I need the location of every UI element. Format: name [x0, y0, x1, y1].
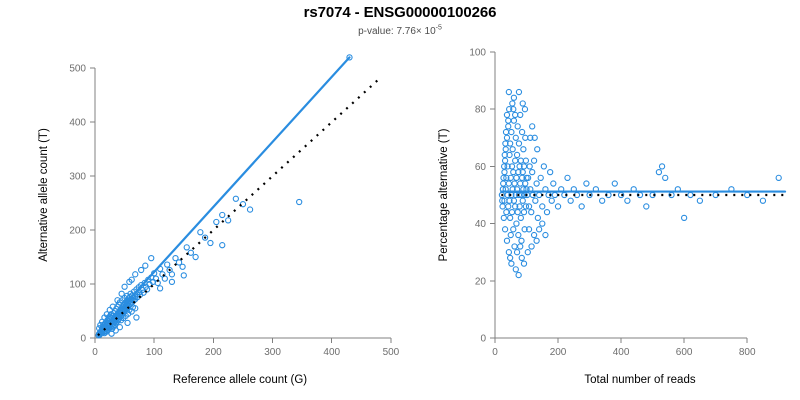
right-data-point [530, 124, 535, 129]
left-data-point [214, 219, 219, 224]
left-data-point [139, 267, 144, 272]
right-data-point [659, 164, 664, 169]
right-data-point [551, 181, 556, 186]
left-data-point [193, 254, 198, 259]
left-data-point [158, 286, 163, 291]
right-data-point [509, 129, 514, 134]
right-data-point [502, 170, 507, 175]
right-data-point [745, 192, 750, 197]
left-data-point [162, 276, 167, 281]
right-data-point [697, 198, 702, 203]
left-data-point [226, 218, 231, 223]
left-x-tick-label: 100 [146, 347, 163, 358]
left-data-point [198, 230, 203, 235]
right-data-point [516, 141, 521, 146]
right-x-tick-label: 400 [613, 347, 630, 358]
right-data-point [518, 244, 523, 249]
right-data-point [537, 227, 542, 232]
right-data-point [515, 210, 520, 215]
left-data-point [184, 245, 189, 250]
right-plot-svg: 0204060801000200400600800Total number of… [400, 0, 800, 400]
right-x-axis-title: Total number of reads [584, 374, 695, 386]
right-data-point [543, 232, 548, 237]
right-data-point [514, 250, 519, 255]
left-data-point [119, 291, 124, 296]
right-data-point [518, 158, 523, 163]
left-data-point [220, 212, 225, 217]
right-data-point [568, 198, 573, 203]
right-data-point [504, 238, 509, 243]
left-y-tick-label: 300 [69, 172, 86, 183]
left-data-point [247, 207, 252, 212]
right-data-point [529, 210, 534, 215]
right-data-point [530, 170, 535, 175]
right-data-point [529, 244, 534, 249]
right-data-point [540, 221, 545, 226]
right-data-point [514, 221, 519, 226]
right-data-point [538, 175, 543, 180]
left-data-point [117, 325, 122, 330]
right-data-point [584, 181, 589, 186]
left-data-point [180, 264, 185, 269]
right-data-point [511, 170, 516, 175]
right-data-point [509, 210, 514, 215]
right-data-point [523, 135, 528, 140]
right-data-point [518, 112, 523, 117]
right-data-point [534, 238, 539, 243]
left-x-tick-label: 0 [92, 347, 98, 358]
right-data-point [523, 158, 528, 163]
right-data-point [531, 158, 536, 163]
left-x-tick-label: 400 [323, 347, 340, 358]
right-data-point [511, 227, 516, 232]
left-data-point [208, 240, 213, 245]
right-data-point [508, 255, 513, 260]
right-data-point [516, 89, 521, 94]
right-y-tick-label: 20 [475, 276, 487, 287]
right-data-point [548, 170, 553, 175]
left-data-point [188, 250, 193, 255]
right-data-point [656, 170, 661, 175]
right-data-point [513, 158, 518, 163]
right-data-point [510, 101, 515, 106]
right-data-point [644, 204, 649, 209]
left-data-point [233, 196, 238, 201]
left-data-point [169, 272, 174, 277]
right-point-cloud [499, 89, 781, 277]
right-data-point [500, 204, 505, 209]
right-data-point [504, 210, 509, 215]
right-x-tick-label: 200 [550, 347, 567, 358]
right-data-point [514, 152, 519, 157]
right-data-point [512, 181, 517, 186]
right-data-point [549, 198, 554, 203]
left-data-point [143, 263, 148, 268]
right-data-point [565, 175, 570, 180]
right-data-point [519, 238, 524, 243]
right-data-point [525, 250, 530, 255]
left-y-tick-label: 100 [69, 280, 86, 291]
right-data-point [513, 135, 518, 140]
right-data-point [503, 129, 508, 134]
right-x-tick-label: 600 [676, 347, 693, 358]
right-data-point [682, 215, 687, 220]
right-data-point [521, 261, 526, 266]
right-data-point [506, 181, 511, 186]
left-data-point [133, 272, 138, 277]
right-data-point [506, 124, 511, 129]
left-x-axis-title: Reference allele count (G) [173, 374, 307, 386]
right-data-point [501, 181, 506, 186]
right-data-point [511, 118, 516, 123]
left-data-point [165, 262, 170, 267]
right-data-point [527, 164, 532, 169]
right-data-point [544, 210, 549, 215]
left-data-point [149, 256, 154, 261]
right-data-point [506, 250, 511, 255]
left-data-point [220, 243, 225, 248]
right-data-point [520, 198, 525, 203]
left-y-tick-label: 0 [80, 334, 86, 345]
right-data-point [508, 232, 513, 237]
right-data-point [510, 147, 515, 152]
right-y-tick-label: 60 [475, 162, 487, 173]
right-data-point [579, 204, 584, 209]
right-data-point [513, 112, 518, 117]
right-data-point [502, 227, 507, 232]
figure-canvas: rs7074 - ENSG00000100266 p-value: 7.76× … [0, 0, 800, 400]
right-data-point [513, 267, 518, 272]
right-data-point [516, 232, 521, 237]
left-data-point [122, 284, 127, 289]
right-x-tick-label: 0 [492, 347, 498, 358]
left-x-tick-label: 200 [205, 347, 222, 358]
right-data-point [518, 181, 523, 186]
right-data-point [535, 147, 540, 152]
left-y-tick-label: 200 [69, 226, 86, 237]
right-y-axis-title: Percentage alternative (T) [438, 128, 450, 261]
right-data-point [600, 198, 605, 203]
right-data-point [518, 215, 523, 220]
right-data-point [526, 204, 531, 209]
right-data-point [509, 261, 514, 266]
right-data-point [516, 272, 521, 277]
right-data-point [520, 129, 525, 134]
right-data-point [502, 164, 507, 169]
left-x-tick-label: 500 [383, 347, 400, 358]
right-data-point [760, 198, 765, 203]
right-data-point [504, 112, 509, 117]
right-data-point [521, 210, 526, 215]
right-data-point [552, 192, 557, 197]
left-x-tick-label: 300 [264, 347, 281, 358]
right-data-point [534, 181, 539, 186]
right-data-point [519, 255, 524, 260]
right-data-point [533, 198, 538, 203]
right-data-point [535, 215, 540, 220]
left-identity-line [98, 79, 379, 335]
right-data-point [531, 232, 536, 237]
right-data-point [508, 215, 513, 220]
right-data-point [688, 192, 693, 197]
right-data-point [506, 89, 511, 94]
left-plot-svg: 01002003004005000100200300400500Referenc… [0, 0, 400, 400]
right-y-tick-label: 100 [469, 48, 486, 59]
right-y-tick-label: 80 [475, 105, 487, 116]
right-data-point [523, 181, 528, 186]
right-data-point [540, 204, 545, 209]
right-data-point [506, 118, 511, 123]
left-y-axis-title: Alternative allele count (T) [38, 128, 50, 262]
right-data-point [511, 95, 516, 100]
right-data-point [663, 175, 668, 180]
right-data-point [522, 107, 527, 112]
right-y-tick-label: 0 [480, 334, 486, 345]
right-data-point [555, 204, 560, 209]
left-data-point [169, 279, 174, 284]
left-y-tick-label: 400 [69, 118, 86, 129]
left-scatter-panel: 01002003004005000100200300400500Referenc… [0, 0, 400, 400]
right-data-point [503, 147, 508, 152]
right-data-point [515, 124, 520, 129]
right-data-point [502, 158, 507, 163]
right-data-point [537, 192, 542, 197]
left-y-tick-label: 500 [69, 64, 86, 75]
right-data-point [541, 164, 546, 169]
right-data-point [512, 244, 517, 249]
right-data-point [520, 101, 525, 106]
right-scatter-panel: 0204060801000200400600800Total number of… [400, 0, 800, 400]
left-data-point [134, 315, 139, 320]
right-data-point [504, 135, 509, 140]
right-data-point [501, 215, 506, 220]
right-data-point [521, 147, 526, 152]
right-data-point [506, 204, 511, 209]
left-regression-line [98, 57, 350, 333]
left-data-point [297, 199, 302, 204]
left-data-point [181, 273, 186, 278]
left-data-point [125, 320, 130, 325]
right-data-point [514, 175, 519, 180]
right-data-point [776, 175, 781, 180]
right-data-point [612, 181, 617, 186]
right-data-point [625, 198, 630, 203]
right-y-tick-label: 40 [475, 219, 487, 230]
right-x-tick-label: 800 [739, 347, 756, 358]
